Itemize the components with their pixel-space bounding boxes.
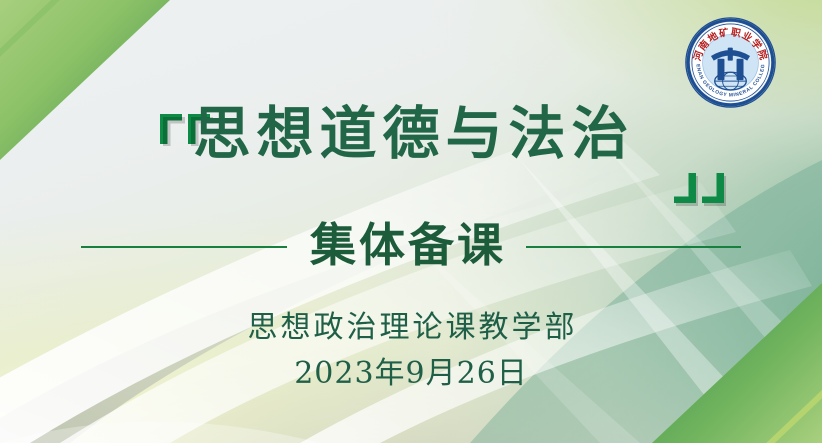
college-logo: 河南地矿职业学院 HENAN GEOLOGY MINERAL COLLEGE <box>684 16 777 109</box>
divider-line-right <box>526 246 741 248</box>
subtitle-row: 集体备课 <box>0 213 822 277</box>
presentation-date: 2023年9月26日 <box>0 348 822 392</box>
divider-line-left <box>81 246 287 248</box>
department-name: 思想政治理论课教学部 <box>0 302 822 346</box>
slide-main-title: 思想道德与法治 <box>0 105 822 165</box>
diagonal-stripe-top-left <box>0 0 149 87</box>
presentation-title-slide: 河南地矿职业学院 HENAN GEOLOGY MINERAL COLLEGE 思… <box>0 0 822 443</box>
slide-subtitle: 集体备课 <box>307 222 506 268</box>
closing-quote-mark-icon <box>672 172 730 206</box>
